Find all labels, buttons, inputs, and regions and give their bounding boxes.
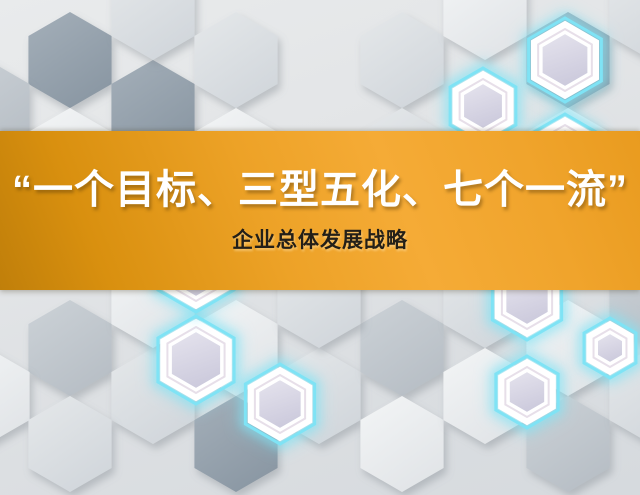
presentation-slide: “一个目标、三型五化、七个一流” 企业总体发展战略 — [0, 0, 640, 495]
slide-subtitle: 企业总体发展战略 — [232, 229, 408, 252]
hexagon-tile — [111, 0, 194, 60]
hexagon-tile — [194, 12, 277, 108]
glowing-hexagon — [526, 15, 604, 105]
hexagon-tile — [360, 396, 443, 492]
hexagon-tile — [0, 348, 30, 444]
hexagon-tile — [443, 0, 526, 60]
hexagon-tile — [360, 300, 443, 396]
glowing-hexagon — [581, 315, 638, 381]
hexagon-tile — [28, 300, 111, 396]
hexagon-tile — [28, 396, 111, 492]
title-banner: “一个目标、三型五化、七个一流” 企业总体发展战略 — [0, 131, 640, 290]
glowing-hexagon — [155, 313, 236, 407]
glowing-hexagon — [243, 361, 317, 447]
glowing-hexagon — [493, 353, 561, 431]
hexagon-tile — [28, 12, 111, 108]
hexagon-tile — [360, 12, 443, 108]
slide-title: “一个目标、三型五化、七个一流” — [12, 169, 628, 211]
hexagon-tile — [609, 0, 640, 60]
